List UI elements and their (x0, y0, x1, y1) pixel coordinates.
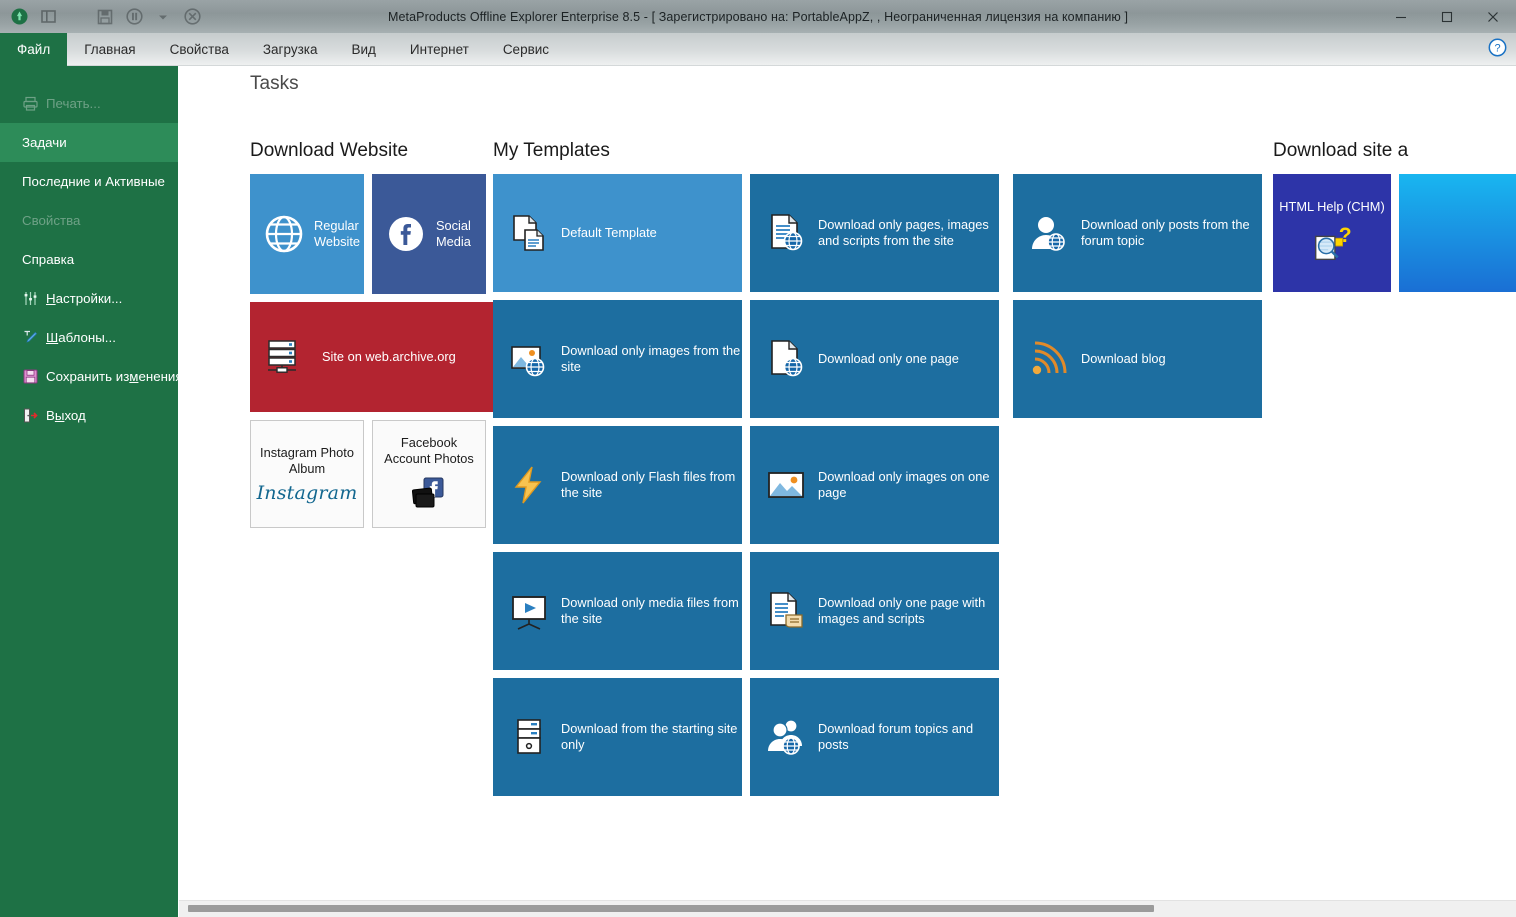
app-icon[interactable] (6, 4, 32, 30)
sidebar-item-properties[interactable]: Свойства (0, 201, 178, 240)
section-download-website: Download Website Regular Website Social … (178, 140, 486, 796)
tile-label: Download only one page with images and s… (818, 595, 998, 627)
tile-site-as-secondary-1[interactable] (1399, 174, 1516, 292)
tile-label: Download from the starting site only (561, 721, 741, 753)
maximize-button[interactable] (1424, 0, 1470, 33)
sliders-icon (22, 290, 39, 307)
tile-instagram-photo-album[interactable]: Instagram Photo Album Instagram (250, 420, 364, 528)
rss-icon (1029, 339, 1069, 379)
tile-label: Default Template (561, 225, 657, 241)
tab-service[interactable]: Сервис (486, 33, 566, 66)
stop-icon[interactable] (179, 4, 205, 30)
tile-label: Download only pages, images and scripts … (818, 217, 998, 249)
tile-label: Download only images on one page (818, 469, 998, 501)
tile-label: Download only media files from the site (561, 595, 741, 627)
tile-label: Social Media (436, 218, 486, 250)
tile-download-blog[interactable]: Download blog (1013, 300, 1262, 418)
sidebar-item-label: Свойства (22, 213, 80, 228)
tab-download[interactable]: Загрузка (246, 33, 335, 66)
facebook-photos-icon (407, 471, 451, 515)
tile-site-on-web-archive[interactable]: Site on web.archive.org (250, 302, 498, 412)
sidebar-item-label: Справка (22, 252, 74, 267)
server-rack-icon (264, 335, 308, 379)
chm-help-icon: ? (1310, 223, 1354, 267)
tab-main[interactable]: Главная (67, 33, 152, 66)
horizontal-scrollbar[interactable] (179, 900, 1516, 917)
page-title: Tasks (250, 73, 299, 95)
window-controls (1378, 0, 1516, 33)
title-bar: MetaProducts Offline Explorer Enterprise… (0, 0, 1516, 33)
svg-text:?: ? (1494, 42, 1500, 54)
tile-html-help-chm[interactable]: HTML Help (CHM) ? (1273, 174, 1391, 292)
tab-file[interactable]: Файл (0, 33, 67, 66)
image-globe-icon (509, 339, 549, 379)
sidebar-item-label: Сохранить изменения (46, 369, 183, 384)
printer-icon (22, 95, 39, 112)
scrollbar-thumb[interactable] (188, 905, 1154, 912)
tile-label: Download only images from the site (561, 343, 741, 375)
user-globe-icon (1029, 213, 1069, 253)
picture-icon (766, 465, 806, 505)
section-heading: My Templates (493, 140, 1006, 162)
tile-download-images-on-one-page[interactable]: Download only images on one page (750, 426, 999, 544)
minimize-button[interactable] (1378, 0, 1424, 33)
tab-properties[interactable]: Свойства (153, 33, 246, 66)
tile-label: Download only Flash files from the site (561, 469, 741, 501)
tile-label: Instagram Photo Album (257, 445, 357, 477)
sidebar-item-print[interactable]: Печать... (0, 84, 178, 123)
tile-download-from-starting-site-only[interactable]: Download from the starting site only (493, 678, 742, 796)
tile-label: Regular Website (314, 218, 364, 250)
section-templates-column3: . Download only posts from the forum top… (1006, 140, 1266, 796)
page-globe-icon (766, 213, 806, 253)
dropdown-arrow-icon[interactable] (150, 4, 176, 30)
floppy-disk-icon (22, 368, 39, 385)
tile-label: Facebook Account Photos (379, 435, 479, 467)
tile-download-only-one-page[interactable]: Download only one page (750, 300, 999, 418)
tile-download-media-files[interactable]: Download only media files from the site (493, 552, 742, 670)
sidebar-item-label: Задачи (22, 135, 67, 150)
instagram-wordmark-icon: Instagram (257, 482, 358, 506)
facebook-circle-icon (386, 214, 426, 254)
tile-label: Download blog (1081, 351, 1166, 367)
sidebar-item-label: Шаблоны... (46, 330, 116, 345)
sidebar-item-label: Выход (46, 408, 86, 423)
sidebar-item-help[interactable]: Справка (0, 240, 178, 279)
sidebar-item-templates[interactable]: Шаблоны... (0, 318, 178, 357)
tile-regular-website[interactable]: Regular Website (250, 174, 364, 294)
file-menu-sidebar: Печать... Задачи Последние и Активные Св… (0, 66, 178, 917)
media-player-icon (509, 591, 549, 631)
tasks-content-area: Tasks Download Website Regular Website S… (178, 66, 1516, 917)
tile-label: Download only one page (818, 351, 959, 367)
sidebar-item-recent-active[interactable]: Последние и Активные (0, 162, 178, 201)
blank-page-globe-icon (766, 339, 806, 379)
tile-label: HTML Help (CHM) (1279, 199, 1384, 215)
users-globe-icon (766, 717, 806, 757)
quick-access-toolbar (0, 0, 205, 33)
section-my-templates: My Templates Default Template (486, 140, 1006, 796)
tile-label: Site on web.archive.org (322, 349, 456, 365)
tile-download-one-page-with-images-scripts[interactable]: Download only one page with images and s… (750, 552, 999, 670)
sidebar-item-label: Настройки... (46, 291, 122, 306)
tile-download-flash-files[interactable]: Download only Flash files from the site (493, 426, 742, 544)
globe-icon (264, 214, 304, 254)
section-heading: Download Website (250, 140, 486, 162)
save-icon[interactable] (92, 4, 118, 30)
sidebar-item-exit[interactable]: Выход (0, 396, 178, 435)
help-icon[interactable]: ? (1486, 36, 1508, 58)
window-title: MetaProducts Offline Explorer Enterprise… (0, 0, 1516, 33)
exit-door-icon (22, 407, 39, 424)
pencil-ruler-icon (22, 329, 39, 346)
tile-download-posts-from-forum-topic[interactable]: Download only posts from the forum topic (1013, 174, 1262, 292)
tab-internet[interactable]: Интернет (393, 33, 486, 66)
tasks-columns: Download Website Regular Website Social … (178, 140, 1516, 796)
sidebar-item-save-changes[interactable]: Сохранить изменения (0, 357, 178, 396)
panel-toggle-icon[interactable] (35, 4, 61, 30)
server-icon (509, 717, 549, 757)
sidebar-item-label: Последние и Активные (22, 174, 165, 189)
tile-facebook-account-photos[interactable]: Facebook Account Photos (372, 420, 486, 528)
tile-label: Download only posts from the forum topic (1081, 217, 1261, 249)
sidebar-item-tasks[interactable]: Задачи (0, 123, 178, 162)
tab-view[interactable]: Вид (334, 33, 392, 66)
tile-default-template[interactable]: Default Template (493, 174, 742, 292)
page-script-icon (766, 591, 806, 631)
tile-social-media[interactable]: Social Media (372, 174, 486, 294)
lightning-bolt-icon (509, 465, 549, 505)
tile-download-images-from-site[interactable]: Download only images from the site (493, 300, 742, 418)
section-heading: Download site a (1273, 140, 1516, 162)
ribbon-tabbar: Файл Главная Свойства Загрузка Вид Интер… (0, 33, 1516, 66)
pause-icon[interactable] (121, 4, 147, 30)
tile-label: Download forum topics and posts (818, 721, 998, 753)
documents-icon (509, 213, 549, 253)
sidebar-item-label: Печать... (46, 96, 101, 111)
tile-download-forum-topics-posts[interactable]: Download forum topics and posts (750, 678, 999, 796)
close-button[interactable] (1470, 0, 1516, 33)
sidebar-item-settings[interactable]: Настройки... (0, 279, 178, 318)
section-download-site-as: Download site a HTML Help (CHM) ? (1266, 140, 1516, 796)
tile-download-pages-images-scripts[interactable]: Download only pages, images and scripts … (750, 174, 999, 292)
